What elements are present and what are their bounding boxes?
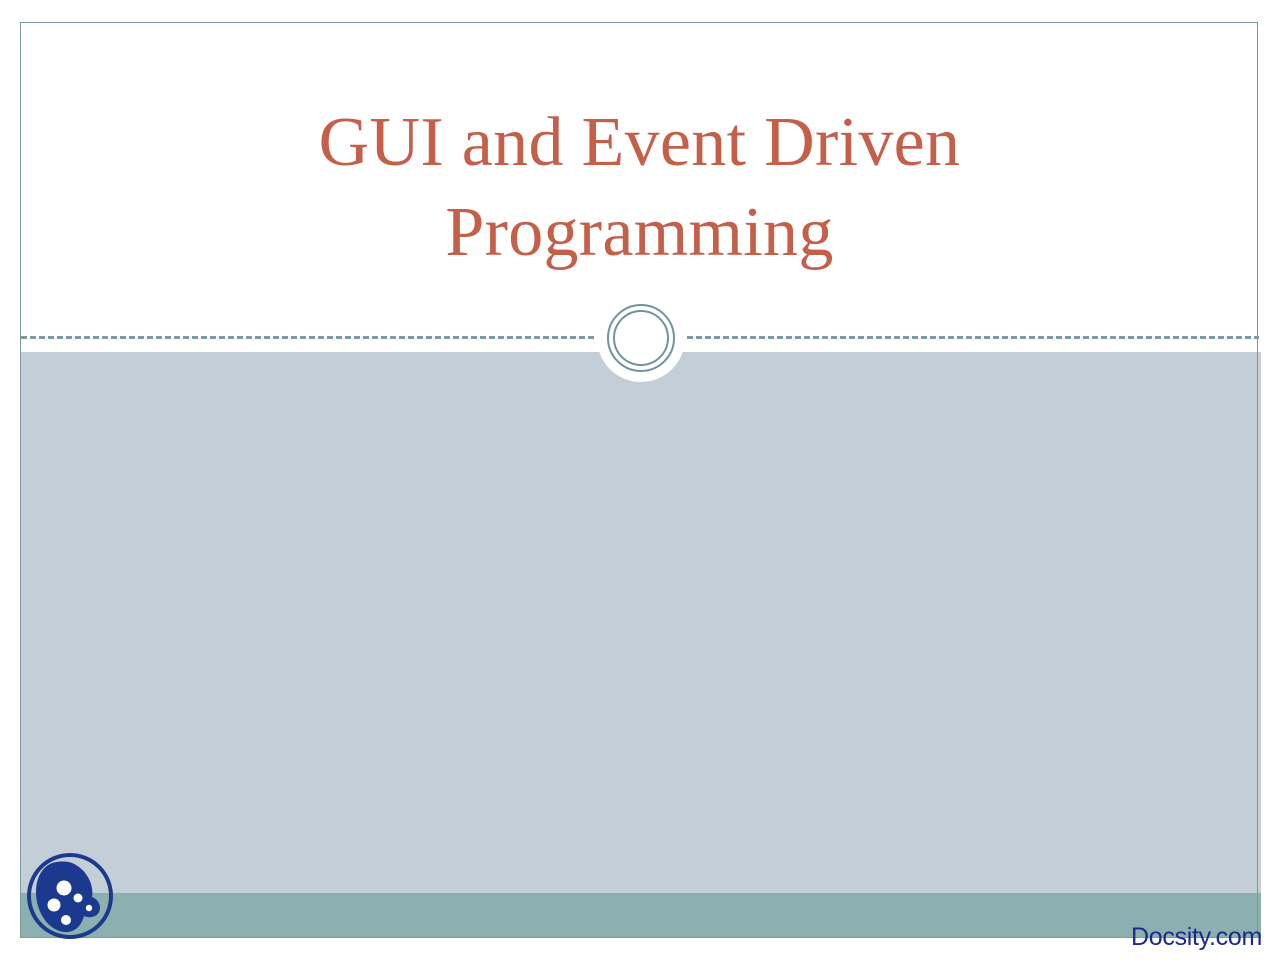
ornament-inner-ring: [613, 310, 669, 366]
title-band: GUI and Event Driven Programming: [21, 23, 1258, 339]
slide-root: GUI and Event Driven Programming Docsity…: [0, 0, 1280, 960]
docsity-logo-icon: [26, 850, 114, 942]
footer-bar: [21, 893, 1261, 938]
page-title-line-2: Programming: [445, 194, 833, 271]
content-body-panel: [21, 352, 1261, 893]
double-ring-circle-icon: [597, 294, 685, 382]
page-title-line-1: GUI and Event Driven: [319, 104, 961, 181]
docsity-watermark-text: Docsity.com: [1131, 923, 1262, 952]
page-title: GUI and Event Driven Programming: [190, 84, 1090, 277]
